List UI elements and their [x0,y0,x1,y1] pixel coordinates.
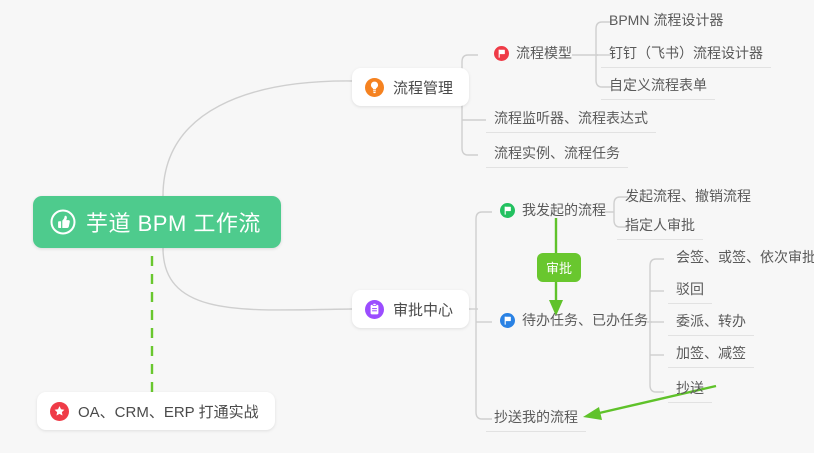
leaf-instance-task[interactable]: 流程实例、流程任务 [486,143,628,168]
leaf-reject[interactable]: 驳回 [668,279,712,304]
branch-label-process-management: 流程管理 [393,77,453,98]
leaf-bpmn-designer[interactable]: BPMN 流程设计器 [601,10,731,34]
leaf-label-listener-expression: 流程监听器、流程表达式 [494,108,648,128]
clipboard-icon [365,300,384,319]
branch-node-approval-center[interactable]: 审批中心 [352,290,469,328]
leaf-listener-expression[interactable]: 流程监听器、流程表达式 [486,108,656,133]
leaf-delegate-transfer[interactable]: 委派、转办 [668,311,754,336]
leaf-cc[interactable]: 抄送 [668,378,712,403]
leaf-label-reject: 驳回 [676,279,704,299]
thumbs-up-icon [50,209,76,235]
flag-icon [494,46,509,61]
leaf-label-assignee-approval: 指定人审批 [625,215,695,235]
leaf-label-cc: 抄送 [676,378,704,398]
root-node[interactable]: 芋道 BPM 工作流 [33,196,281,248]
leaf-todo-done-tasks[interactable]: 待办任务、已办任务 [492,310,656,334]
branch-node-process-management[interactable]: 流程管理 [352,68,469,106]
leaf-process-model[interactable]: 流程模型 [486,43,580,67]
leaf-my-started-processes[interactable]: 我发起的流程 [492,200,614,224]
leaf-label-custom-process-form: 自定义流程表单 [609,75,707,95]
approval-callout-badge: 审批 [537,253,581,282]
link-root-to-approve [163,248,352,310]
bottom-node-oa-crm-erp[interactable]: OA、CRM、ERP 打通实战 [37,392,275,430]
mindmap-canvas: 芋道 BPM 工作流 流程管理 流程模型 BPMN 流程设计器 钉钉（飞书）流程… [0,0,814,453]
link-root-to-process [163,81,352,196]
leaf-label-start-cancel-process: 发起流程、撤销流程 [625,186,751,206]
leaf-countersign[interactable]: 会签、或签、依次审批 [668,247,814,271]
leaf-label-instance-task: 流程实例、流程任务 [494,143,620,163]
leaf-label-bpmn-designer: BPMN 流程设计器 [609,10,723,30]
lightbulb-icon [365,78,384,97]
leaf-label-delegate-transfer: 委派、转办 [676,311,746,331]
leaf-label-cc-to-me: 抄送我的流程 [494,407,578,427]
root-label: 芋道 BPM 工作流 [86,206,261,238]
leaf-label-countersign: 会签、或签、依次审批 [676,247,814,267]
branch-label-approval-center: 审批中心 [393,299,453,320]
leaf-label-add-remove-sign: 加签、减签 [676,343,746,363]
leaf-custom-process-form[interactable]: 自定义流程表单 [601,75,715,100]
flag-icon [500,313,515,328]
flag-icon [500,203,515,218]
leaf-start-cancel-process[interactable]: 发起流程、撤销流程 [617,186,759,210]
leaf-dingtalk-feishu-designer[interactable]: 钉钉（飞书）流程设计器 [601,43,771,68]
leaf-label-todo-done-tasks: 待办任务、已办任务 [522,310,648,330]
leaf-label-dingtalk-feishu-designer: 钉钉（飞书）流程设计器 [609,43,763,63]
bottom-node-label: OA、CRM、ERP 打通实战 [78,401,259,422]
leaf-label-my-started-processes: 我发起的流程 [522,200,606,220]
link-approve-spine [476,212,492,419]
leaf-cc-to-me[interactable]: 抄送我的流程 [486,407,586,432]
leaf-assignee-approval[interactable]: 指定人审批 [617,215,703,240]
leaf-label-process-model: 流程模型 [516,43,572,63]
leaf-add-remove-sign[interactable]: 加签、减签 [668,343,754,368]
star-icon [50,402,69,421]
approval-callout-label: 审批 [546,258,572,277]
